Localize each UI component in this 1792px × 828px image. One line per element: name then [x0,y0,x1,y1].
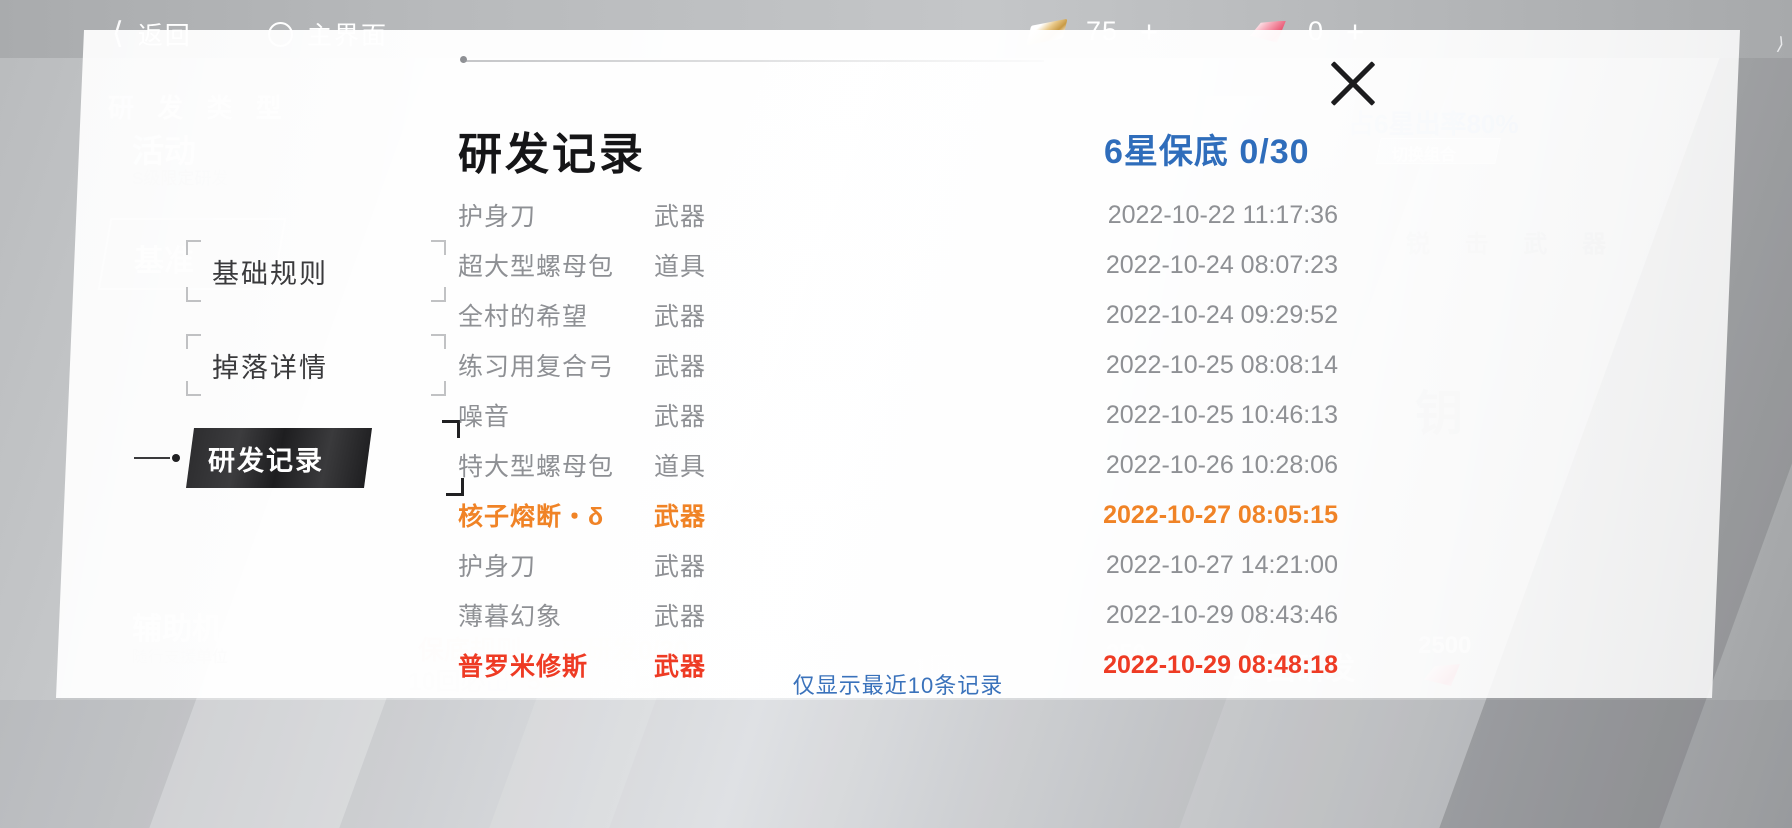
sidebar-item-drop-details[interactable]: 掉落详情 [186,334,446,396]
record-name: 练习用复合弓 [458,347,654,383]
record-type: 武器 [654,397,954,433]
record-name: 特大型螺母包 [458,447,654,483]
active-indicator-dot [172,454,180,462]
pity-counter: 6星保底 0/30 [1104,124,1310,173]
record-type: 武器 [654,497,954,533]
sidebar-item-label: 研发记录 [186,439,324,478]
record-time: 2022-10-29 08:43:46 [954,601,1338,630]
record-time: 2022-10-24 09:29:52 [954,301,1338,330]
record-name: 全村的希望 [458,297,654,333]
record-name: 护身刀 [458,197,654,233]
record-time: 2022-10-27 14:21:00 [954,551,1338,580]
record-table: 护身刀 武器 2022-10-22 11:17:36 超大型螺母包 道具 202… [458,190,1338,690]
corner-bracket-icon [186,240,201,255]
sidebar-item-basic-rules[interactable]: 基础规则 [186,240,446,302]
record-time: 2022-10-27 08:05:15 [954,501,1338,530]
record-type: 道具 [654,447,954,483]
record-time: 2022-10-24 08:07:23 [954,251,1338,280]
table-row: 护身刀 武器 2022-10-22 11:17:36 [458,190,1338,240]
corner-bracket-icon [431,381,446,396]
sidebar-item-label: 基础规则 [186,252,328,291]
corner-bracket-icon [186,381,201,396]
record-type: 武器 [654,547,954,583]
sidebar-item-research-record[interactable]: 研发记录 [186,428,446,488]
table-row: 特大型螺母包 道具 2022-10-26 10:28:06 [458,440,1338,490]
close-icon[interactable] [1320,50,1386,116]
research-record-modal: 研发记录 6星保底 0/30 基础规则 掉落详情 研发记录 护身刀 [56,30,1740,698]
sidebar: 基础规则 掉落详情 研发记录 [186,240,446,520]
table-row: 超大型螺母包 道具 2022-10-24 08:07:23 [458,240,1338,290]
corner-bracket-icon [431,334,446,349]
record-footnote: 仅显示最近10条记录 [458,668,1338,698]
record-time: 2022-10-26 10:28:06 [954,451,1338,480]
record-type: 武器 [654,197,954,233]
table-row: 薄暮幻象 武器 2022-10-29 08:43:46 [458,590,1338,640]
record-name: 噪音 [458,397,654,433]
modal-accent-line [464,60,1044,62]
corner-bracket-icon [431,287,446,302]
record-time: 2022-10-25 08:08:14 [954,351,1338,380]
table-row: 噪音 武器 2022-10-25 10:46:13 [458,390,1338,440]
record-name: 护身刀 [458,547,654,583]
table-row: 练习用复合弓 武器 2022-10-25 08:08:14 [458,340,1338,390]
table-row: 核子熔断・δ 武器 2022-10-27 08:05:15 [458,490,1338,540]
record-name: 核子熔断・δ [458,497,654,533]
corner-bracket-icon [431,240,446,255]
record-type: 道具 [654,247,954,283]
record-name: 超大型螺母包 [458,247,654,283]
record-name: 薄暮幻象 [458,597,654,633]
record-type: 武器 [654,347,954,383]
record-type: 武器 [654,297,954,333]
background-shadow [0,700,1792,828]
corner-bracket-icon [186,287,201,302]
sidebar-item-label: 掉落详情 [186,346,328,385]
table-row: 全村的希望 武器 2022-10-24 09:29:52 [458,290,1338,340]
record-time: 2022-10-25 10:46:13 [954,401,1338,430]
table-row: 护身刀 武器 2022-10-27 14:21:00 [458,540,1338,590]
corner-bracket-icon [186,334,201,349]
record-time: 2022-10-22 11:17:36 [954,201,1338,230]
active-indicator-line [134,457,170,459]
record-type: 武器 [654,597,954,633]
page-title: 研发记录 [458,118,646,182]
